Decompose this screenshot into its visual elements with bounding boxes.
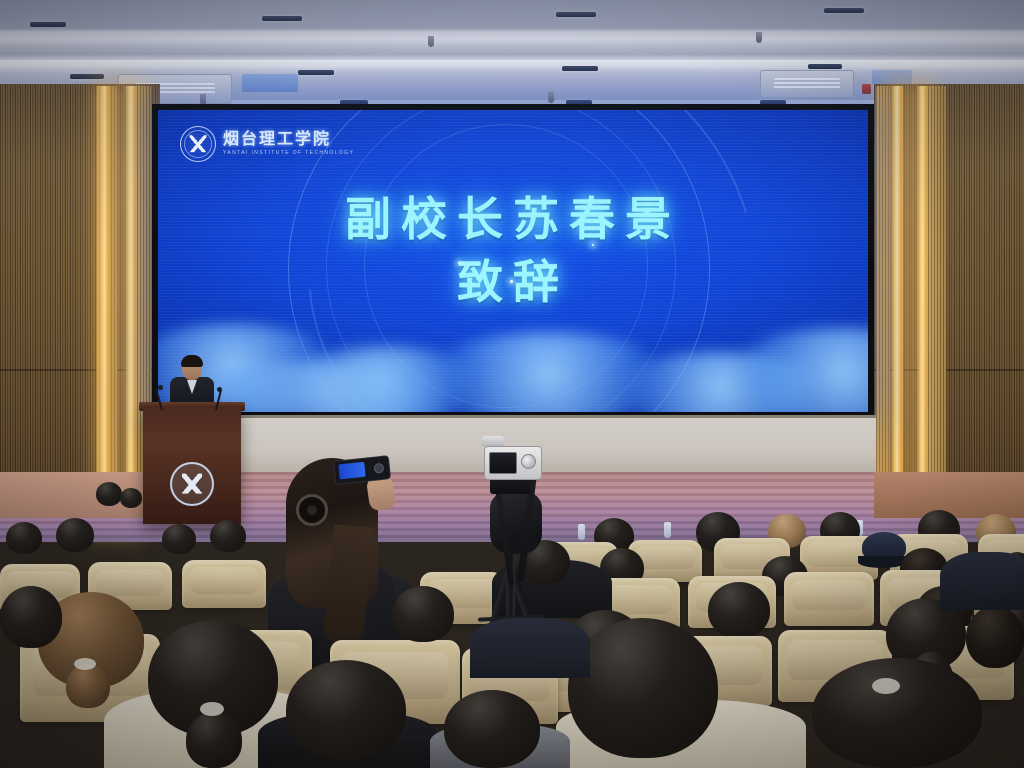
podium-emblem-icon: [170, 462, 214, 506]
water-bottle: [578, 524, 585, 540]
light-strip-right-inner: [890, 86, 903, 532]
vent-grille: [774, 78, 840, 89]
hair-clip: [296, 494, 328, 526]
speaker-hair: [181, 355, 203, 367]
attendee-head: [708, 582, 770, 638]
hair-tie: [200, 702, 224, 716]
attendee-head: [966, 606, 1024, 668]
slide-title: 副校长苏春景 致辞: [158, 188, 868, 315]
attendee-ponytail: [66, 664, 110, 708]
water-bottle: [664, 522, 671, 538]
logo-text-en: YANTAI INSTITUTE OF TECHNOLOGY: [223, 151, 354, 156]
slide-logo: 烟台理工学院 YANTAI INSTITUTE OF TECHNOLOGY: [180, 126, 354, 162]
wood-trim-right: [876, 86, 890, 532]
light-strip-left-outer: [98, 86, 110, 532]
vent-blue-panel: [872, 70, 912, 84]
microphone-head-icon: [158, 385, 163, 390]
auditorium-seat[interactable]: [182, 560, 266, 608]
camera-lcd-screen: [489, 452, 517, 474]
led-screen-bezel: 烟台理工学院 YANTAI INSTITUTE OF TECHNOLOGY 副校…: [152, 104, 874, 418]
slide-logo-text: 烟台理工学院 YANTAI INSTITUTE OF TECHNOLOGY: [223, 132, 354, 156]
recessed-light: [298, 70, 334, 75]
exit-indicator: [862, 84, 871, 94]
emblem-inner-ring: [184, 130, 212, 158]
sparkle-icon: [592, 244, 594, 246]
camera-viewfinder: [482, 436, 504, 446]
auditorium-seat[interactable]: [784, 572, 874, 626]
stage-floor-right: [874, 472, 1024, 518]
recessed-light: [70, 74, 104, 79]
attendee-head: [162, 524, 196, 554]
recessed-light: [824, 8, 864, 13]
attendee-head: [120, 488, 142, 508]
phone-screen: [338, 462, 365, 480]
camera-body[interactable]: [484, 446, 542, 480]
attendee-head: [568, 618, 718, 758]
speaker-podium: [143, 406, 241, 524]
attendee-shoulders: [940, 552, 1024, 610]
slide-title-line-1: 副校长苏春景: [345, 192, 681, 246]
hair-tie: [872, 678, 900, 694]
attendee-head: [210, 520, 246, 552]
attendee-ponytail: [186, 712, 242, 768]
attendee-head: [812, 658, 982, 768]
wood-trim-right-outer: [928, 86, 946, 532]
recessed-light: [808, 64, 842, 69]
attendee-head: [6, 522, 42, 554]
phone-camera-lens-icon: [373, 463, 384, 474]
vent-blue-panel: [242, 74, 298, 92]
hair-tie: [74, 658, 96, 670]
sprinkler-head: [756, 32, 762, 43]
logo-text-cn: 烟台理工学院: [223, 132, 354, 148]
university-emblem-icon: [180, 126, 216, 162]
sparkle-icon: [458, 262, 460, 264]
attendee-head: [392, 586, 454, 642]
sprinkler-head: [548, 92, 554, 103]
recessed-light: [562, 66, 598, 71]
cap-brim: [858, 556, 906, 568]
recessed-light: [262, 16, 302, 21]
cloud-band: [158, 300, 868, 412]
recessed-light: [30, 22, 66, 27]
ceiling-cove-band: [0, 60, 1024, 68]
camera-mode-dial-icon[interactable]: [521, 454, 536, 469]
attendee-head: [444, 690, 540, 768]
auditorium-scene: 烟台理工学院 YANTAI INSTITUTE OF TECHNOLOGY 副校…: [0, 0, 1024, 768]
attendee-shoulders: [470, 618, 590, 678]
attendee-head: [56, 518, 94, 552]
cloud-shape: [718, 328, 868, 412]
recessed-light: [556, 12, 596, 17]
ac-vent: [760, 70, 854, 98]
attendee-head: [0, 586, 62, 648]
sparkle-icon: [510, 280, 513, 283]
microphone-head-icon: [217, 387, 222, 392]
light-strip-left-inner: [124, 86, 137, 532]
led-screen[interactable]: 烟台理工学院 YANTAI INSTITUTE OF TECHNOLOGY 副校…: [158, 110, 868, 412]
sprinkler-head: [428, 36, 434, 47]
attendee-head: [96, 482, 122, 506]
attendee-head: [286, 660, 406, 760]
light-strip-right-outer: [916, 86, 928, 532]
